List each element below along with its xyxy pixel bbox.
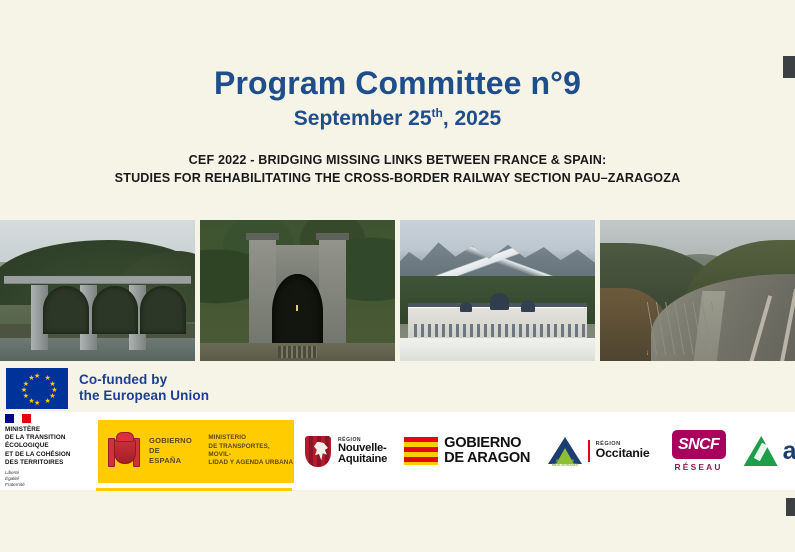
title-block: Program Committee n°9 September 25th, 20… (0, 66, 795, 130)
occitanie-name: Occitanie (596, 447, 650, 460)
ministere-line5: DES TERRITOIRES (5, 459, 71, 467)
logo-adif: adif (744, 412, 795, 490)
snow-foreground (400, 338, 595, 361)
sncf-reseau-sub: RÉSEAU (672, 462, 726, 472)
motto-line3: Fraternité (5, 482, 71, 488)
occitanie-divider (588, 440, 590, 462)
aragon-line1: GOBIERNO (444, 436, 530, 451)
eu-funding-line2: the European Union (79, 388, 209, 404)
project-subtitle-line2: STUDIES FOR REHABILITATING THE CROSS-BOR… (0, 169, 795, 187)
logo-region-occitanie: PYRÉNÉES MÉDITERRANÉE RÉGION Occitanie (548, 412, 649, 490)
sncf-badge: SNCF (672, 430, 726, 459)
eu-funding-bar: ★ ★ ★ ★ ★ ★ ★ ★ ★ ★ ★ ★ Co-funded by the… (0, 364, 795, 412)
viaduct-deck (4, 276, 191, 283)
ministere-name: MINISTÈRE DE LA TRANSITION ÉCOLOGIQUE ET… (5, 426, 71, 468)
ministere-line1: MINISTÈRE (5, 426, 71, 434)
adif-name: adif (783, 439, 795, 464)
event-date: September 25th, 2025 (0, 107, 795, 130)
ministerio-transportes-text: MINISTERIO DE TRANSPORTES, MOVIL- LIDAD … (208, 434, 294, 467)
spain-logo-panel: GOBIERNO DE ESPAÑA MINISTERIO DE TRANSPO… (98, 420, 294, 483)
gobierno-line1: GOBIERNO (149, 436, 194, 446)
photo-stone-railway-viaduct (0, 220, 195, 361)
slide-bottom-margin (0, 490, 795, 552)
occitanie-text: RÉGION Occitanie (596, 441, 650, 460)
ministerio-line2: DE TRANSPORTES, MOVIL- (208, 443, 294, 460)
tunnel-tower-cap-right (316, 233, 349, 240)
nouvelle-aquitaine-text: RÉGION Nouvelle- Aquitaine (338, 437, 387, 466)
station-dome-left (460, 302, 472, 312)
european-union-flag-icon: ★ ★ ★ ★ ★ ★ ★ ★ ★ ★ ★ ★ (6, 368, 68, 409)
ministere-line3: ÉCOLOGIQUE (5, 442, 71, 450)
photo-tunnel-portal (200, 220, 395, 361)
station-windows (410, 324, 586, 337)
occitanie-triangle-icon: PYRÉNÉES MÉDITERRANÉE (548, 435, 582, 467)
logo-gobierno-de-aragon: GOBIERNO DE ARAGON (404, 412, 530, 490)
event-date-ordinal: th (432, 106, 443, 120)
tunnel-opening (272, 274, 323, 350)
window-edge-control[interactable] (786, 498, 795, 516)
sncf-name: SNCF (678, 436, 719, 454)
logo-gobierno-de-espana: GOBIERNO DE ESPAÑA MINISTERIO DE TRANSPO… (93, 412, 294, 490)
photo-railway-track-valley (600, 220, 795, 361)
railway-track (278, 346, 317, 359)
page-title: Program Committee n°9 (0, 66, 795, 102)
gobierno-de-espana-text: GOBIERNO DE ESPAÑA (149, 436, 194, 467)
ministerio-line1: MINISTERIO (208, 434, 294, 442)
eu-funding-line1: Co-funded by (79, 372, 209, 388)
logo-ministere-transition-ecologique: MINISTÈRE DE LA TRANSITION ÉCOLOGIQUE ET… (0, 412, 93, 490)
window-scrollbar-thumb[interactable] (783, 56, 795, 78)
partner-logo-bar: MINISTÈRE DE LA TRANSITION ÉCOLOGIQUE ET… (0, 412, 795, 490)
station-dome-center (490, 293, 510, 310)
project-subtitle: CEF 2022 - BRIDGING MISSING LINKS BETWEE… (0, 151, 795, 188)
event-date-prefix: September 25 (294, 107, 432, 130)
spain-coat-of-arms-icon (108, 431, 140, 471)
viaduct-arch (43, 286, 89, 334)
presentation-slide: Program Committee n°9 September 25th, 20… (0, 0, 795, 552)
sky (400, 220, 595, 251)
french-republic-motto: Liberté Égalité Fraternité (5, 470, 71, 488)
spain-logo-accent-underline (96, 488, 292, 491)
adif-leaf-icon (744, 436, 778, 466)
photo-strip (0, 220, 795, 361)
eu-funding-text: Co-funded by the European Union (79, 372, 209, 405)
gobierno-de-aragon-text: GOBIERNO DE ARAGON (444, 436, 530, 466)
tunnel-light (296, 305, 298, 311)
french-flag-icon (5, 414, 31, 423)
logo-sncf-reseau: SNCF RÉSEAU (672, 412, 726, 490)
tunnel-tower-cap-left (246, 233, 279, 240)
ministerio-line3: LIDAD Y AGENDA URBANA (208, 459, 294, 467)
occitanie-tagline2: MÉDITERRANÉE (550, 463, 580, 467)
logo-region-nouvelle-aquitaine: RÉGION Nouvelle- Aquitaine (305, 412, 387, 490)
occitanie-tagline: PYRÉNÉES MÉDITERRANÉE (550, 459, 580, 467)
nouvelle-aquitaine-line2: Aquitaine (338, 454, 387, 465)
photo-canfranc-station (400, 220, 595, 361)
viaduct-arch (140, 286, 186, 334)
project-subtitle-line1: CEF 2022 - BRIDGING MISSING LINKS BETWEE… (0, 151, 795, 169)
ministere-line4: ET DE LA COHÉSION (5, 451, 71, 459)
tunnel-tower-right (319, 237, 346, 355)
event-date-suffix: , 2025 (443, 107, 501, 130)
gobierno-line2: DE ESPAÑA (149, 446, 194, 467)
station-dome-right (521, 300, 535, 311)
nouvelle-aquitaine-shield-icon (305, 436, 331, 467)
river (0, 338, 195, 361)
viaduct-arch (92, 286, 138, 334)
safety-fence (647, 302, 713, 356)
aragon-flag-icon (404, 437, 438, 465)
aragon-line2: DE ARAGON (444, 451, 530, 466)
